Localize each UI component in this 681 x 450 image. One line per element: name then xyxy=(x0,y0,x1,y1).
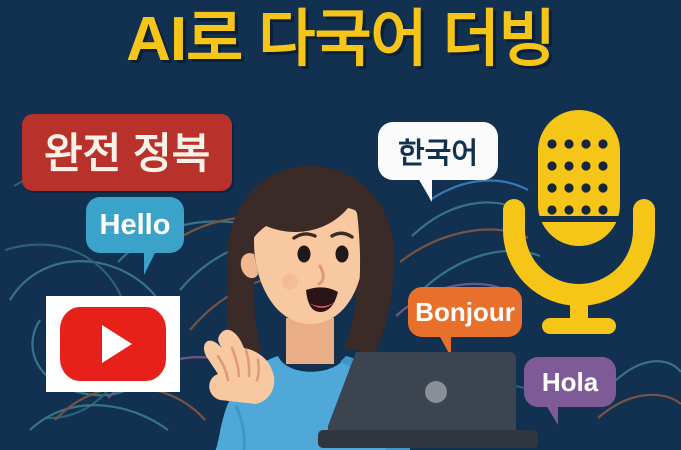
thumbnail-canvas: Hello 한국어 Bonjour Hola AI로 다국어 더빙 완전 정복 xyxy=(0,0,681,450)
speech-bubble-hello-label: Hello xyxy=(100,209,171,242)
speech-bubble-hello: Hello xyxy=(86,197,184,253)
laptop-icon xyxy=(318,344,538,450)
speech-bubble-bonjour-label: Bonjour xyxy=(415,297,515,328)
speech-bubble-hola-label: Hola xyxy=(542,367,598,398)
page-title: AI로 다국어 더빙 xyxy=(0,8,681,72)
bubble-tail-icon xyxy=(410,178,432,202)
speech-bubble-korean-label: 한국어 xyxy=(398,130,478,172)
play-triangle-icon xyxy=(102,325,132,363)
speech-bubble-bonjour: Bonjour xyxy=(408,287,522,337)
bubble-tail-icon xyxy=(144,251,165,275)
speech-bubble-korean: 한국어 xyxy=(378,122,498,180)
bubble-tail-icon xyxy=(540,405,558,425)
status-badge: 완전 정복 xyxy=(22,114,232,191)
youtube-body xyxy=(60,307,166,381)
youtube-play-icon[interactable] xyxy=(46,296,180,392)
